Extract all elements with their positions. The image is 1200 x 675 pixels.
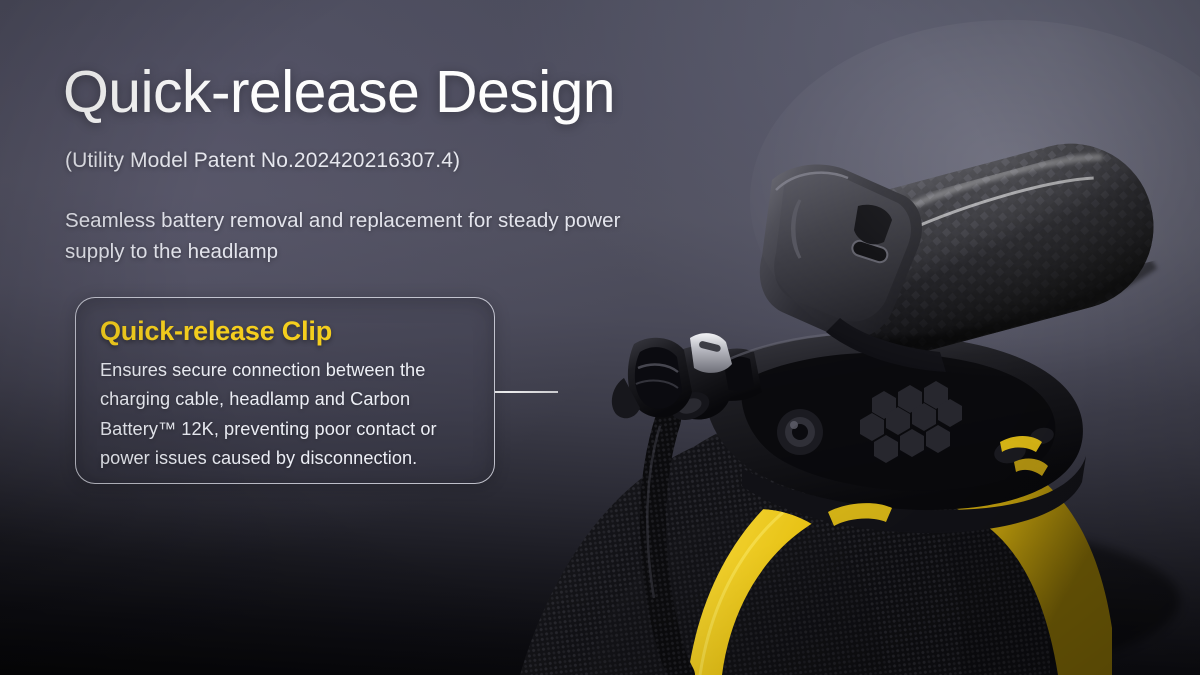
page-title: Quick-release Design: [63, 62, 615, 124]
usb-c-metal-tip: [690, 333, 732, 373]
patent-note: (Utility Model Patent No.202420216307.4): [65, 147, 460, 174]
callout-heading: Quick-release Clip: [100, 316, 472, 347]
subtitle-text: Seamless battery removal and replacement…: [65, 205, 665, 267]
quick-release-clip: [612, 338, 692, 419]
quick-release-clip-callout: Quick-release Clip Ensures secure connec…: [75, 297, 495, 484]
callout-leader-line: [495, 391, 558, 393]
callout-body: Ensures secure connection between the ch…: [100, 356, 472, 474]
product-feature-slide: Quick-release Design (Utility Model Pate…: [0, 0, 1200, 675]
